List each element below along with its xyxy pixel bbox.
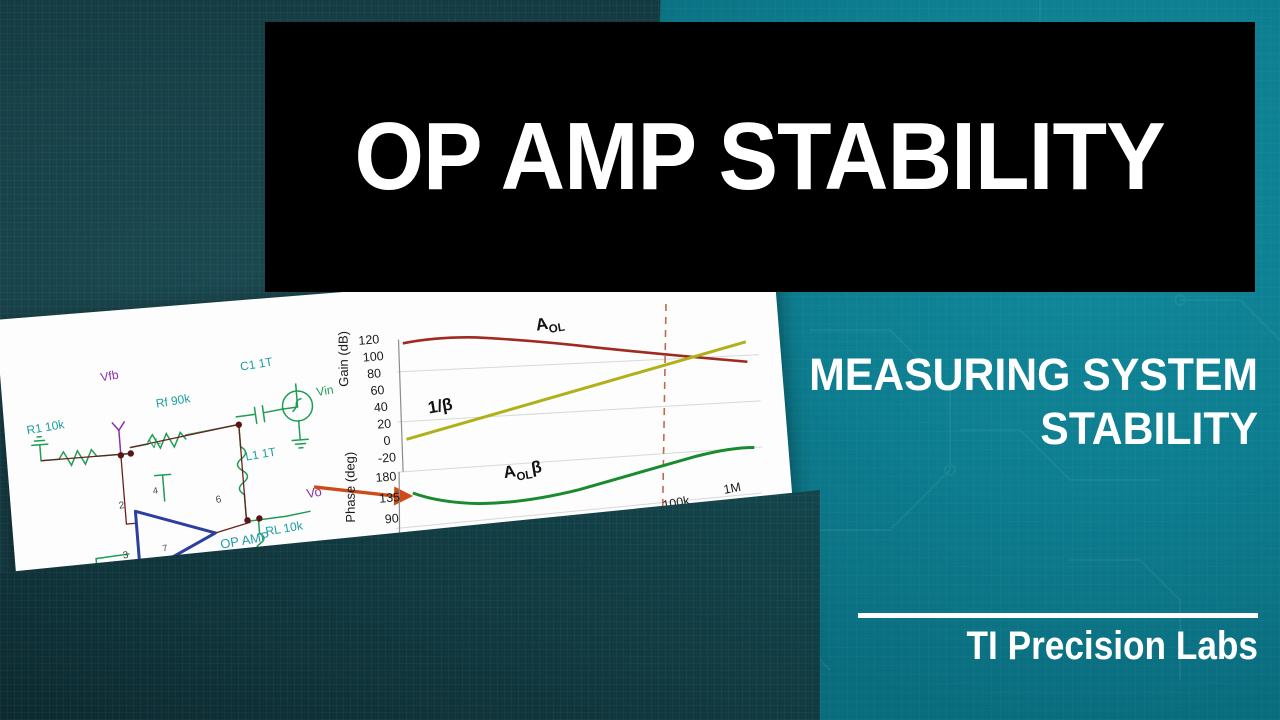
- pin-2: 2: [118, 500, 125, 512]
- gain-tick-1: 100: [362, 349, 384, 365]
- page-title: OP AMP STABILITY: [355, 109, 1165, 205]
- annotation-aol: AOL: [534, 311, 566, 338]
- gain-tick-6: 0: [383, 434, 391, 449]
- label-vfb: Vfb: [99, 368, 119, 385]
- brand-block: TI Precision Labs: [838, 613, 1258, 668]
- annotation-one-over-beta: 1/β: [427, 395, 455, 419]
- crossover-marker-line: [642, 292, 686, 527]
- brand-divider: [858, 613, 1258, 618]
- subtitle-line-2: STABILITY: [764, 402, 1258, 456]
- axis-label-gain: Gain (dB): [335, 331, 351, 387]
- gain-tick-0: 120: [358, 332, 380, 348]
- label-vin: Vin: [315, 382, 334, 399]
- series-aol-beta: [411, 447, 757, 510]
- title-banner: OP AMP STABILITY: [265, 22, 1255, 292]
- title-slide: R1 10k Rf 90k C1 1T L1 1T RL 10k Vin OP …: [0, 0, 1280, 720]
- gain-tick-5: 20: [377, 417, 392, 432]
- phase-tick-2: 90: [384, 511, 399, 526]
- gain-tick-4: 40: [373, 400, 388, 415]
- brand-name: TI Precision Labs: [888, 624, 1258, 668]
- gain-tick-3: 60: [370, 383, 385, 398]
- series-aol: [403, 314, 748, 389]
- series-one-over-beta: [401, 342, 751, 440]
- gain-tick-2: 80: [367, 366, 382, 381]
- gain-tick-7: -20: [377, 450, 396, 465]
- subtitle-block: MEASURING SYSTEM STABILITY: [738, 348, 1258, 456]
- axis-label-phase: Phase (deg): [342, 452, 358, 523]
- phase-tick-1: 135: [379, 490, 401, 506]
- subtitle-line-1: MEASURING SYSTEM: [764, 348, 1258, 402]
- label-v-minus: V-: [148, 435, 163, 452]
- phase-tick-0: 180: [375, 469, 397, 485]
- pin-6: 6: [215, 494, 222, 506]
